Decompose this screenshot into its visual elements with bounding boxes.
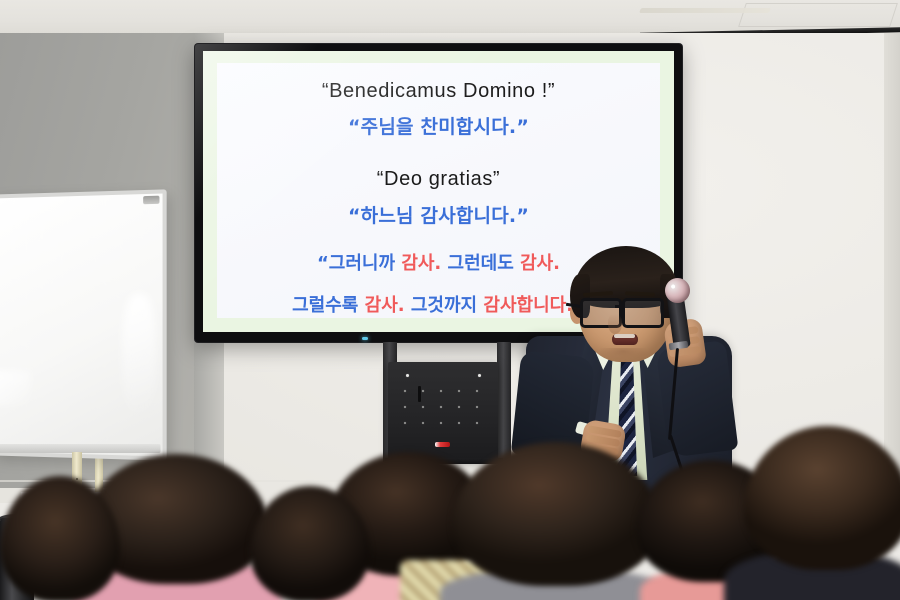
slide-line-korean-1: “주님을 찬미합시다.” [217, 116, 660, 140]
av-speaker-grille [398, 374, 488, 436]
slide-line-latin-2: “Deo gratias” [217, 167, 660, 192]
closing-1-seg-1: “그러니까 [317, 253, 401, 274]
eyeglasses-bridge [615, 305, 624, 308]
eyeglasses-lens-right [622, 298, 664, 328]
closing-2-seg-3: 그것까지 [405, 295, 484, 316]
nose [608, 314, 622, 334]
closing-2-seg-1: 그럴수록 [292, 295, 365, 316]
ceiling-light-strip [639, 8, 771, 13]
av-slot [418, 386, 421, 402]
whiteboard-corner-bracket [143, 196, 159, 205]
display-power-led-icon [362, 337, 368, 340]
audience-head-6 [744, 426, 900, 570]
audience-foreground [0, 430, 900, 600]
whiteboard-glare-secondary [0, 371, 31, 407]
closing-1-seg-3: 그런데도 [441, 253, 520, 274]
audience-head-3 [452, 442, 660, 586]
chin-shadow [598, 348, 648, 364]
slide-line-korean-2: “하느님 감사합니다.” [217, 205, 660, 229]
whiteboard-glare [122, 293, 157, 415]
photo-scene: “Benedicamus Domino !” “주님을 찬미합시다.” “Deo… [0, 0, 900, 600]
mobile-whiteboard [0, 189, 167, 460]
slide-line-latin-1: “Benedicamus Domino !” [217, 79, 660, 104]
closing-1-seg-2: 감사. [401, 253, 441, 274]
closing-2-seg-2: 감사. [365, 295, 405, 316]
teeth [614, 334, 635, 338]
ceiling-panel-outline [738, 3, 898, 27]
